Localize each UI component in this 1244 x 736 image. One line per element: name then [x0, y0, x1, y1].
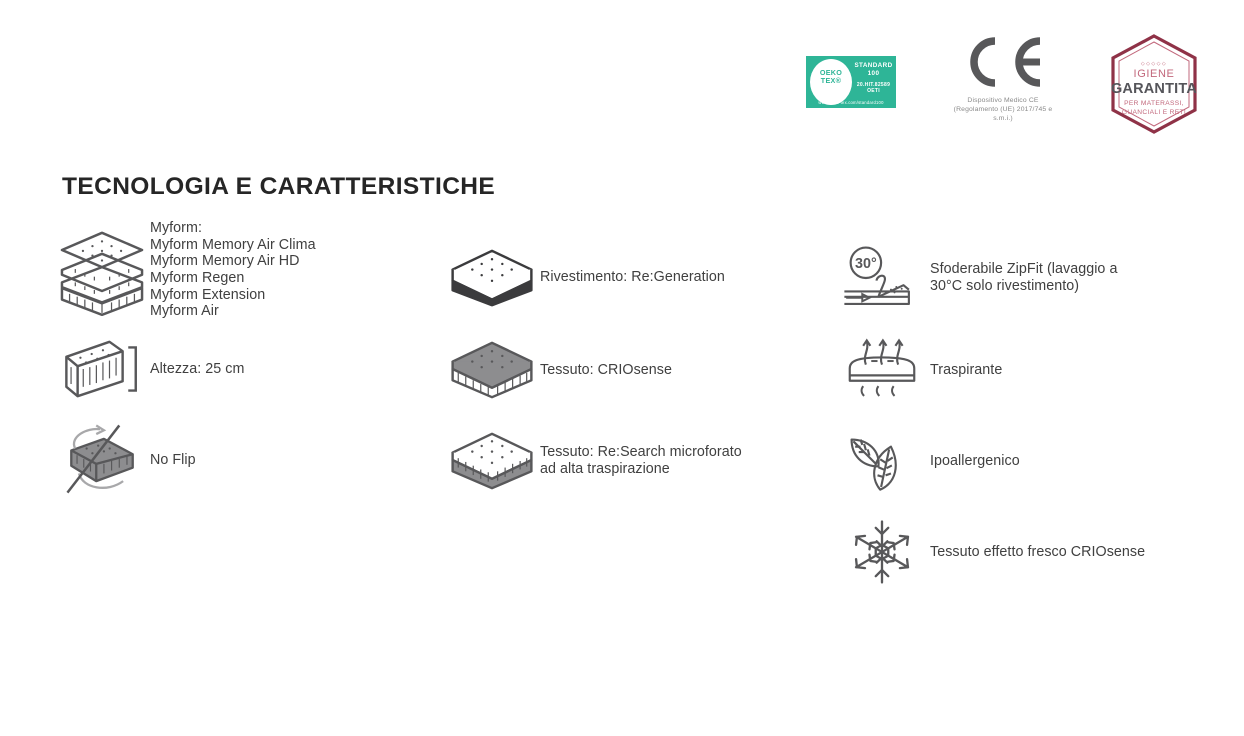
features-column-3: 30° Sfoderabile ZipFit (lavaggi [834, 216, 1214, 597]
feature-item: 30° Sfoderabile ZipFit (lavaggi [834, 230, 1214, 325]
feature-item: Ipoallergenico [834, 415, 1214, 507]
feature-label: No Flip [150, 452, 196, 469]
oeko-tex-standard-block: STANDARD 100 20.HIT.82589 OETI [852, 62, 895, 94]
feature-label: Sfoderabile ZipFit (lavaggio a 30°C solo… [930, 261, 1117, 294]
features-column-2: Rivestimento: Re:Generation [444, 216, 834, 597]
feature-item: Altezza: 25 cm [54, 324, 444, 414]
ce-logo-icon [962, 34, 1044, 90]
feature-item: No Flip [54, 414, 444, 506]
feature-label: Altezza: 25 cm [150, 361, 244, 378]
feature-item: Tessuto: CRIOsense [444, 325, 834, 415]
mattress-fabric-gray-icon [444, 332, 540, 408]
feature-label: Tessuto effetto fresco CRIOsense [930, 544, 1145, 561]
temperature-badge-text: 30° [855, 256, 877, 272]
feature-label: Tessuto: Re:Search microforato ad alta t… [540, 444, 742, 477]
mattress-height-bracket-icon [54, 331, 150, 407]
feature-item: Tessuto: Re:Search microforato ad alta t… [444, 415, 834, 507]
ce-marking: Dispositivo Medico CE (Regolamento (UE) … [948, 34, 1058, 123]
igiene-line-3: PER MATERASSI, GUANCIALI E RETI [1110, 100, 1198, 117]
features-column-1: Myform: Myform Memory Air Clima Myform M… [54, 216, 444, 597]
feature-label: Traspirante [930, 362, 1002, 379]
snowflake-cooling-icon [834, 514, 930, 590]
hypoallergenic-leaves-icon [834, 423, 930, 499]
igiene-line-2: GARANTITA [1111, 81, 1197, 98]
feature-item: Myform: Myform Memory Air Clima Myform M… [54, 216, 444, 324]
feature-label: Tessuto: CRIOsense [540, 362, 672, 379]
feature-item: Rivestimento: Re:Generation [444, 230, 834, 325]
breathable-airflow-icon [834, 332, 930, 408]
mattress-cover-block-icon [444, 240, 540, 316]
ce-caption: Dispositivo Medico CE (Regolamento (UE) … [948, 96, 1058, 123]
mattress-layers-stack-icon [54, 232, 150, 308]
igiene-dots: ◇◇◇◇◇ [1141, 61, 1167, 67]
feature-item: Tessuto effetto fresco CRIOsense [834, 507, 1214, 597]
feature-label: Ipoallergenico [930, 453, 1020, 470]
washable-cover-30-degrees-icon: 30° [834, 240, 930, 316]
oeko-tex-badge: OEKO TEX® STANDARD 100 20.HIT.82589 OETI… [806, 56, 896, 108]
mattress-fabric-perforated-icon [444, 423, 540, 499]
oeko-tex-brand-line-2: TEX® [811, 77, 851, 85]
feature-label: Rivestimento: Re:Generation [540, 269, 725, 286]
page-title: TECNOLOGIA E CARATTERISTICHE [62, 173, 495, 201]
oeko-tex-brand: OEKO TEX® [811, 69, 851, 85]
feature-item: Traspirante [834, 325, 1214, 415]
certification-strip: OEKO TEX® STANDARD 100 20.HIT.82589 OETI… [806, 34, 1198, 138]
features-grid: Myform: Myform Memory Air Clima Myform M… [54, 216, 1214, 597]
no-flip-icon [54, 422, 150, 498]
oeko-tex-standard: STANDARD 100 [852, 62, 895, 77]
oeko-tex-subtitle: 20.HIT.82589 OETI [852, 82, 895, 94]
igiene-garantita-badge: ◇◇◇◇◇ IGIENE GARANTITA PER MATERASSI, GU… [1110, 34, 1198, 134]
feature-label: Myform: Myform Memory Air Clima Myform M… [150, 220, 316, 320]
oeko-tex-url: www.oeko-tex.com/standard100 [806, 100, 896, 105]
igiene-text-block: ◇◇◇◇◇ IGIENE GARANTITA PER MATERASSI, GU… [1110, 34, 1198, 134]
igiene-line-1: IGIENE [1134, 68, 1175, 81]
